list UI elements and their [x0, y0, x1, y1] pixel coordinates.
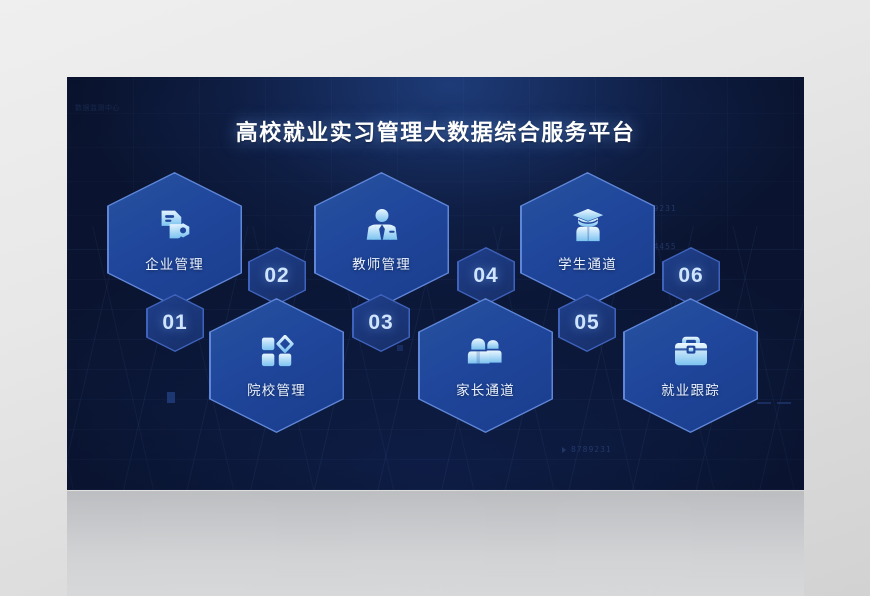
hexagon-grid: 企业管理 01 02 [67, 77, 804, 490]
grid-blocks-icon [258, 333, 296, 369]
hex-number-label: 05 [574, 311, 599, 335]
hex-number-label: 03 [368, 311, 393, 335]
hex-number-03[interactable]: 03 [352, 294, 410, 352]
hex-card-employment[interactable]: 就业跟踪 [623, 298, 758, 433]
two-parents-icon [467, 333, 505, 369]
hex-card-label: 就业跟踪 [661, 379, 720, 399]
hex-number-02[interactable]: 02 [248, 247, 306, 305]
reflection-label: 院校管理 [399, 580, 456, 596]
reflection-hexagons: 院校管理 家长通道 就业跟踪 [67, 492, 804, 596]
presentation-slide: 8789231 7894455 8789231 数据监测中心 实时统计分析 信息… [67, 77, 804, 490]
briefcase-icon [672, 333, 710, 369]
hex-card-label: 学生通道 [558, 253, 617, 273]
hex-card-label: 院校管理 [247, 379, 306, 399]
hex-number-06[interactable]: 06 [662, 247, 720, 305]
slide-reflection: 院校管理 家长通道 就业跟踪 [67, 491, 804, 596]
hex-card-label: 教师管理 [352, 253, 411, 273]
reflection-hex [142, 491, 277, 596]
hex-card-student[interactable]: 学生通道 [520, 172, 655, 307]
hex-number-label: 02 [264, 264, 289, 288]
hex-card-school[interactable]: 院校管理 [209, 298, 344, 433]
document-gear-icon [156, 207, 194, 243]
hex-card-parent[interactable]: 家长通道 [418, 298, 553, 433]
hex-number-label: 01 [162, 311, 187, 335]
teacher-person-icon [363, 207, 401, 243]
hex-card-teacher[interactable]: 教师管理 [314, 172, 449, 307]
reflection-label: 家长通道 [607, 580, 664, 596]
graduate-cap-icon [569, 207, 607, 243]
hex-card-label: 家长通道 [456, 379, 515, 399]
hex-number-01[interactable]: 01 [146, 294, 204, 352]
hex-card-label: 企业管理 [145, 253, 204, 273]
hex-number-04[interactable]: 04 [457, 247, 515, 305]
hex-number-label: 04 [473, 264, 498, 288]
hex-card-enterprise[interactable]: 企业管理 [107, 172, 242, 307]
hex-number-05[interactable]: 05 [558, 294, 616, 352]
hex-number-label: 06 [678, 264, 703, 288]
